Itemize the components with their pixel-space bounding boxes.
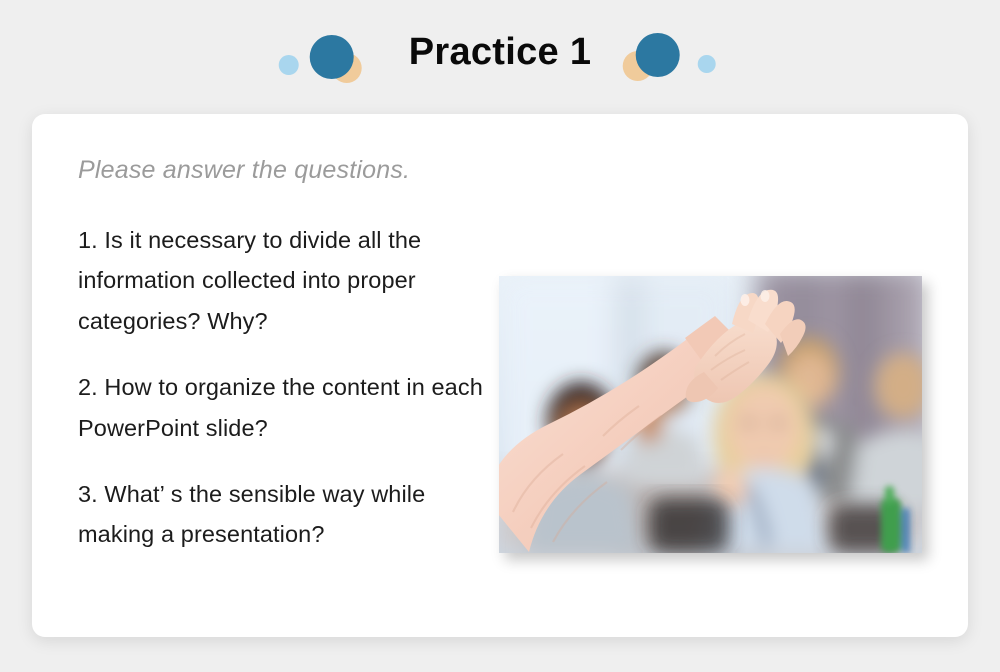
decorative-dots-right — [605, 17, 723, 87]
question-item: 2. How to organize the content in each P… — [78, 367, 484, 448]
audience-photo-image — [499, 276, 922, 553]
light-blue-dot-icon — [279, 55, 299, 75]
audience-photo — [499, 276, 922, 553]
light-blue-dot-icon — [697, 55, 715, 73]
decorative-dots-left — [277, 17, 395, 87]
card-subtitle: Please answer the questions. — [78, 156, 410, 185]
page-title: Practice 1 — [395, 33, 606, 71]
content-card: Please answer the questions. 1. Is it ne… — [32, 114, 968, 637]
blue-dot-icon — [310, 35, 354, 79]
header-inner: Practice 1 — [277, 0, 724, 104]
question-list: 1. Is it necessary to divide all the inf… — [78, 220, 484, 555]
blue-dot-icon — [635, 33, 679, 77]
header: Practice 1 — [0, 0, 1000, 104]
question-item: 1. Is it necessary to divide all the inf… — [78, 220, 484, 341]
question-item: 3. What’ s the sensible way while making… — [78, 474, 484, 555]
